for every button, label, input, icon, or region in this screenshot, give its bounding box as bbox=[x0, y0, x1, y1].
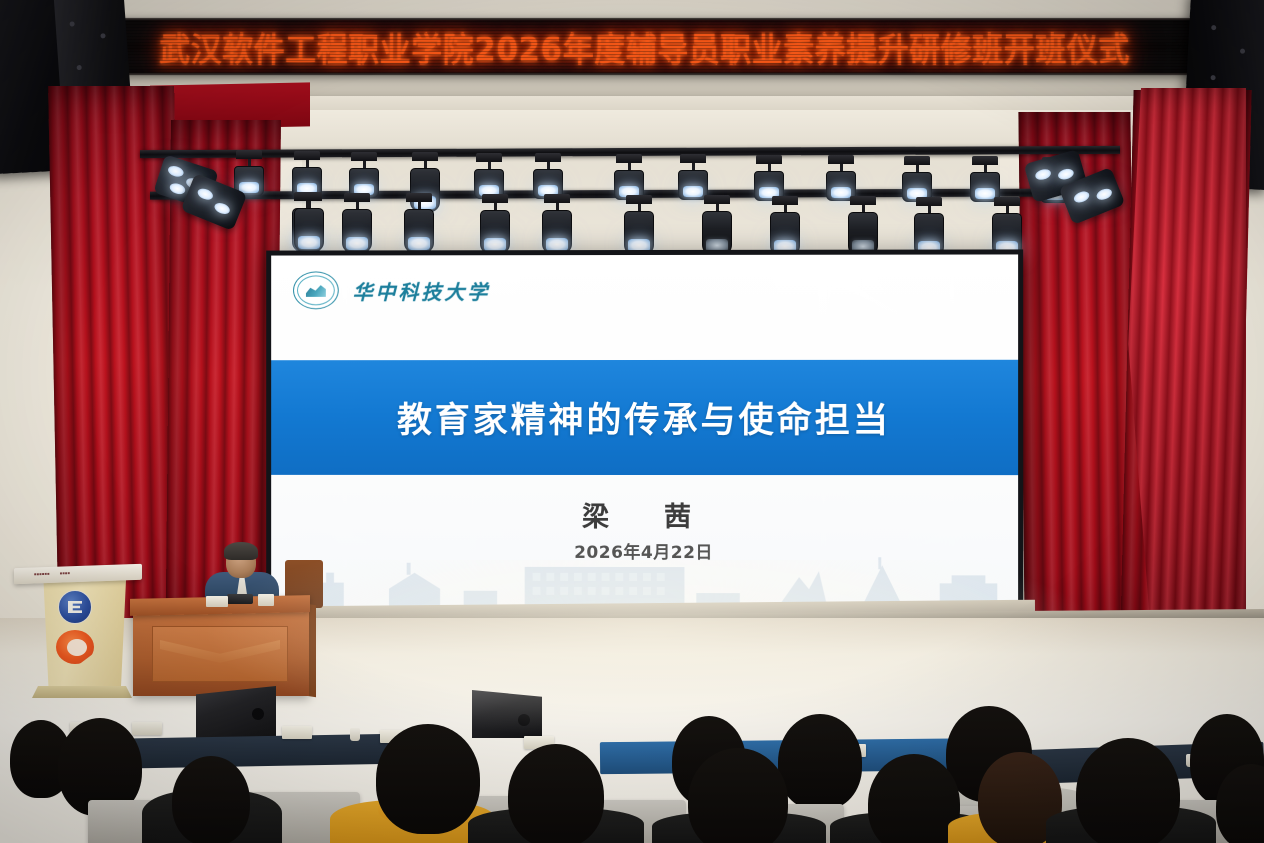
stage-light bbox=[676, 154, 710, 200]
moving-head-light bbox=[990, 197, 1024, 257]
audience-nameplate bbox=[282, 726, 312, 739]
moving-head-light bbox=[340, 193, 374, 253]
moving-head-light bbox=[540, 194, 574, 254]
podium-label-right: ■■■■ bbox=[60, 570, 70, 575]
stage-monitor-center bbox=[472, 690, 542, 738]
moving-head-light bbox=[402, 193, 436, 253]
stage-light bbox=[347, 152, 381, 198]
desk-cup bbox=[258, 594, 274, 606]
seated-presenter-hair bbox=[224, 542, 258, 560]
stage-light bbox=[752, 155, 786, 201]
stage-light bbox=[968, 156, 1002, 202]
audience-head bbox=[172, 756, 250, 843]
moving-head-light-off bbox=[700, 195, 734, 255]
slide-presenter-name: 梁 茜 bbox=[271, 495, 1018, 534]
podium-label-left: ■■■■■■ bbox=[34, 571, 50, 577]
slide-title-band: 教育家精神的传承与使命担当 bbox=[271, 360, 1018, 475]
slide-logo-row: 华中科技大学 bbox=[293, 271, 490, 309]
university-name: 华中科技大学 bbox=[353, 276, 490, 305]
projection-screen[interactable]: 华中科技大学 教育家精神的传承与使命担当 梁 茜 2026年4月22日 bbox=[266, 249, 1023, 618]
stage-light bbox=[900, 156, 934, 202]
stage-light bbox=[612, 154, 646, 200]
slide-title: 教育家精神的传承与使命担当 bbox=[397, 392, 891, 443]
moving-head-light bbox=[768, 196, 802, 256]
stage-light bbox=[472, 153, 506, 199]
desk-microphone bbox=[227, 594, 253, 604]
moving-head-light bbox=[912, 197, 946, 257]
audience-head bbox=[688, 748, 788, 843]
audience-head bbox=[1076, 738, 1180, 843]
moving-head-light-off bbox=[846, 196, 880, 256]
moving-head-light bbox=[478, 194, 512, 254]
led-banner-text: 武汉软件工程职业学院2026年度辅导员职业素养提升研修班开班仪式 bbox=[159, 23, 1130, 71]
moving-head-light bbox=[622, 195, 656, 255]
university-seal-icon bbox=[293, 271, 339, 309]
stage-monitor-left bbox=[196, 686, 276, 738]
auditorium-photo: 武汉软件工程职业学院2026年度辅导员职业素养提升研修班开班仪式 bbox=[0, 0, 1264, 843]
podium-top-labels: ■■■■■■ ■■■■ bbox=[34, 568, 138, 577]
seal-emblem-mark bbox=[306, 284, 326, 297]
audience-head bbox=[508, 744, 604, 843]
audience-head bbox=[778, 714, 862, 810]
moving-head-light bbox=[292, 192, 326, 252]
presentation-slide: 华中科技大学 教育家精神的传承与使命担当 梁 茜 2026年4月22日 bbox=[271, 254, 1018, 613]
audience-cup bbox=[350, 728, 360, 741]
audience-nameplate bbox=[132, 722, 162, 735]
school-crest-icon bbox=[58, 590, 92, 624]
stage-light bbox=[290, 151, 324, 197]
audience-head bbox=[868, 754, 960, 843]
podium-base bbox=[32, 686, 132, 698]
audience-head bbox=[376, 724, 480, 834]
led-banner: 武汉软件工程职业学院2026年度辅导员职业素养提升研修班开班仪式 bbox=[95, 18, 1193, 75]
stage-light bbox=[531, 153, 565, 199]
desk-nameplate bbox=[206, 596, 228, 607]
stage-light bbox=[824, 155, 858, 201]
